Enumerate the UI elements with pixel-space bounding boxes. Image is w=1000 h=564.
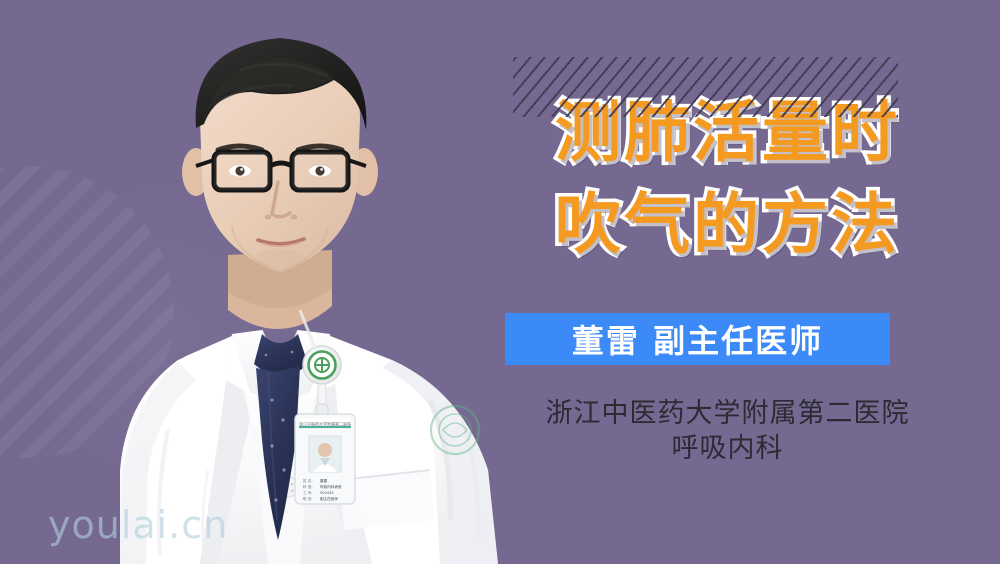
department-name: 呼吸内科 (455, 426, 1000, 465)
hatch-decoration-icon (513, 57, 898, 117)
hospital-name: 浙江中医药大学附属第二医院 (455, 391, 1000, 430)
doctor-name-text: 董雷 副主任医师 (572, 316, 823, 362)
text-panel: 测肺活量时 吹气的方法 董雷 副主任医师 浙江中医药大学附属第二医院 呼吸内科 (455, 0, 1000, 564)
doctor-name-banner: 董雷 副主任医师 (505, 313, 890, 365)
video-thumbnail-card: 浙江中医药大学附属第二医院 姓 名:董雷 科 室:呼吸内科病房 工 号:5024… (0, 0, 1000, 564)
name-banner-group: 董雷 副主任医师 (455, 0, 1000, 430)
